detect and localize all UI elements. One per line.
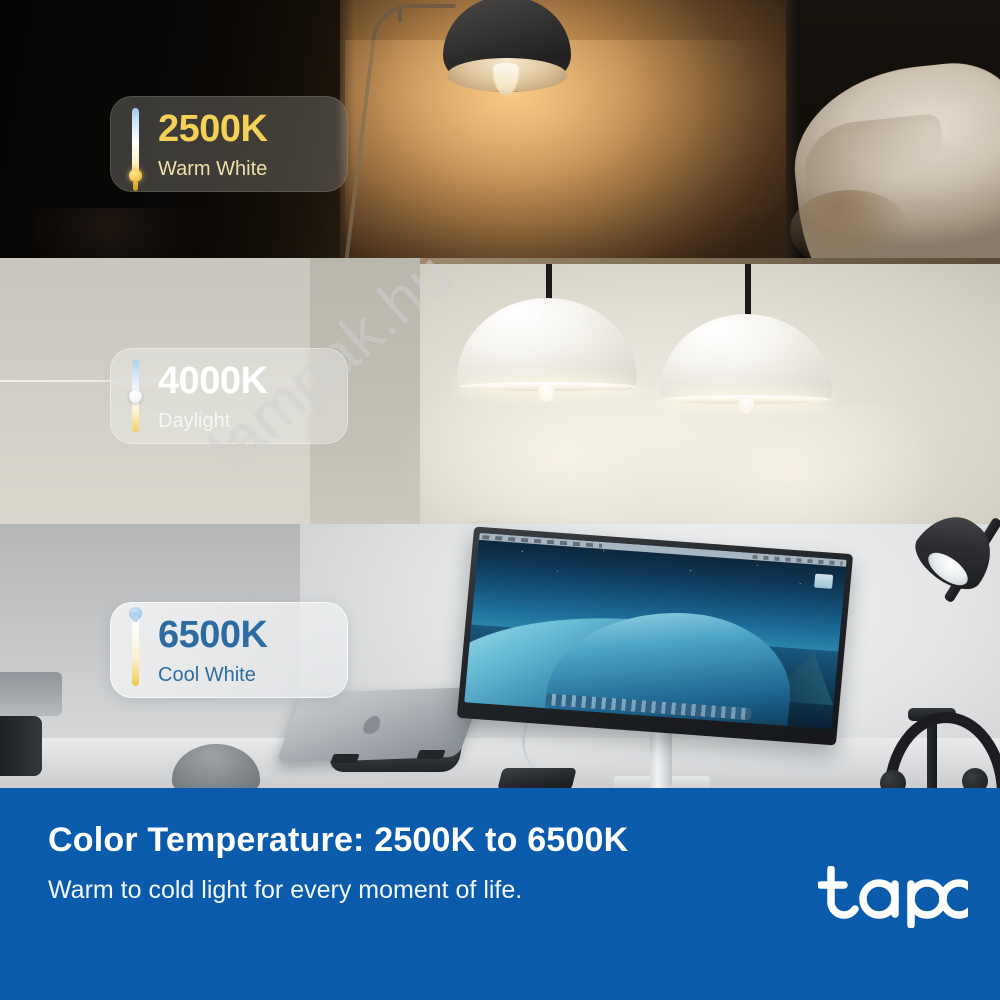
slider-knob-stem	[133, 182, 138, 191]
kelvin-value: 6500K	[158, 616, 267, 654]
badge-2500k: 2500K Warm White	[110, 96, 348, 192]
marketing-image: 2500K Warm White 4000K Daylight 6500K Co…	[0, 0, 1000, 1000]
monitor-screen	[464, 533, 846, 729]
badge-4000k: 4000K Daylight	[110, 348, 348, 444]
warm-foreground-shadow	[20, 208, 200, 258]
badge-text-group: 2500K Warm White	[158, 110, 267, 179]
desktop-file-icon	[814, 574, 833, 589]
badge-text-group: 4000K Daylight	[158, 362, 267, 431]
color-temperature-slider-warm[interactable]	[129, 108, 142, 180]
color-temperature-slider-cool[interactable]	[129, 614, 142, 686]
kelvin-label: Cool White	[158, 665, 267, 685]
color-temperature-slider-daylight[interactable]	[129, 360, 142, 432]
tapo-logo	[818, 866, 968, 928]
banner-title: Color Temperature: 2500K to 6500K	[48, 821, 628, 860]
floor-lamp-arm-joint	[398, 8, 402, 22]
laptop-closed	[276, 687, 484, 763]
badge-text-group: 6500K Cool White	[158, 616, 267, 685]
kelvin-label: Warm White	[158, 159, 267, 179]
desk-accessory-box	[497, 768, 576, 790]
kelvin-label: Daylight	[158, 411, 267, 431]
laptop-stand-pad	[416, 750, 445, 759]
laptop-stand-pad	[330, 754, 359, 763]
slider-knob-stem	[133, 612, 138, 622]
left-object-stand	[0, 716, 42, 776]
slider-knob[interactable]	[129, 169, 142, 182]
badge-6500k: 6500K Cool White	[110, 602, 348, 698]
ultrawide-monitor	[457, 526, 853, 745]
pendant-cord	[745, 264, 751, 316]
kelvin-value: 2500K	[158, 110, 267, 148]
daylight-ceiling-beam	[420, 258, 1000, 264]
slider-knob[interactable]	[129, 390, 142, 403]
slider-knob[interactable]	[129, 607, 142, 620]
slider-track	[132, 614, 139, 686]
banner-subtitle: Warm to cold light for every moment of l…	[48, 876, 522, 905]
pendant-cord	[546, 264, 552, 300]
left-object-top	[0, 672, 62, 716]
kelvin-value: 4000K	[158, 362, 267, 400]
